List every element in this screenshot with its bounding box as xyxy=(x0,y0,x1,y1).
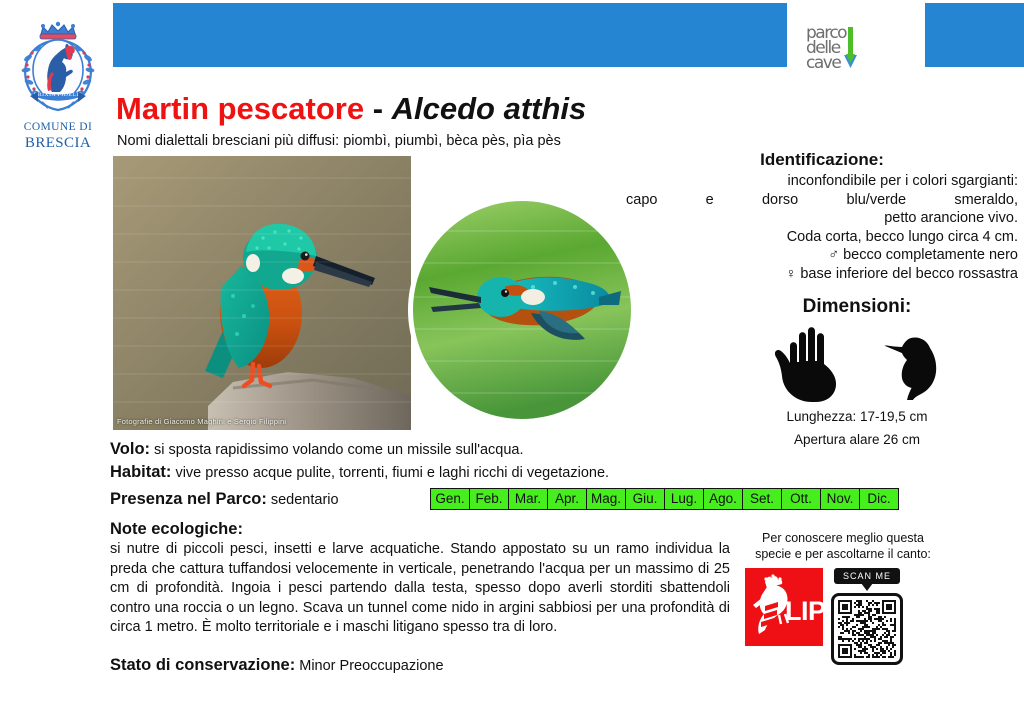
lipu-logo[interactable]: LIPU xyxy=(745,568,823,646)
flight-label: Volo: xyxy=(110,440,150,458)
presence-label: Presenza nel Parco: xyxy=(110,490,267,508)
month-cell-nov: Nov. xyxy=(821,489,859,509)
dimensions-block: Dimensioni: Lunghezza: 17-19,5 cm Apertu… xyxy=(690,296,1024,448)
presence-fact: Presenza nel Parco: sedentario xyxy=(110,490,339,509)
kingfisher-perched-illustration xyxy=(113,156,411,430)
page-title: Martin pescatore - Alcedo atthis xyxy=(116,92,586,126)
dimensions-length: Lunghezza: 17-19,5 cm xyxy=(690,408,1024,425)
crest-label-line2: BRESCIA xyxy=(8,135,108,152)
identification-heading: Identificazione: xyxy=(626,150,1018,170)
conservation-status: Stato di conservazione: Minor Preoccupaz… xyxy=(110,656,444,675)
kingfisher-silhouette-icon xyxy=(881,330,943,402)
months-presence-strip: Gen.Feb.Mar.Apr.Mag.Giu.Lug.Ago.Set.Ott.… xyxy=(430,488,899,510)
poster-sheet: BRIXIA FIDELIS COMUNE DI BRESCIA parco d… xyxy=(0,0,1024,724)
ecological-notes-block: Note ecologiche: si nutre di piccoli pes… xyxy=(110,520,730,638)
kingfisher-flight-illustration xyxy=(413,201,633,421)
identification-line-4: Coda corta, becco lungo circa 4 cm. xyxy=(626,228,1018,247)
hand-silhouette-icon xyxy=(771,324,855,402)
brescia-coat-of-arms-icon: BRIXIA FIDELIS xyxy=(8,18,108,118)
habitat-fact: Habitat: vive presso acque pulite, torre… xyxy=(110,463,609,482)
month-cell-lug: Lug. xyxy=(665,489,703,509)
ecological-notes-body: si nutre di piccoli pesci, insetti e lar… xyxy=(110,540,730,638)
dimensions-heading: Dimensioni: xyxy=(690,296,1024,318)
lipu-wordmark: LIPU xyxy=(785,596,823,626)
svg-text:cave: cave xyxy=(806,53,841,72)
qr-intro-text: Per conoscere meglio questa specie e per… xyxy=(753,530,933,562)
header-blue-bar-right xyxy=(925,3,1024,67)
conservation-status-label: Stato di conservazione: xyxy=(110,656,295,674)
identification-line-female: ♀ base inferiore del becco rossastra xyxy=(626,265,1018,284)
dialect-names: Nomi dialettali bresciani più diffusi: p… xyxy=(117,133,561,149)
month-cell-mag: Mag. xyxy=(587,489,625,509)
qr-lipu-block: Per conoscere meglio questa specie e per… xyxy=(745,530,945,665)
qr-code-matrix xyxy=(838,600,896,658)
month-cell-giu: Giu. xyxy=(626,489,664,509)
presence-value: sedentario xyxy=(267,492,339,508)
kingfisher-flight-photo xyxy=(408,196,636,424)
identification-line-2: capo e dorso blu/verde smeraldo, xyxy=(626,191,1018,210)
month-cell-ott: Ott. xyxy=(782,489,820,509)
month-cell-gen: Gen. xyxy=(431,489,469,509)
parco-delle-cave-logo-icon: parco delle cave xyxy=(806,24,901,72)
header-blue-bar xyxy=(113,3,787,67)
svg-text:BRIXIA FIDELIS: BRIXIA FIDELIS xyxy=(34,92,83,98)
kingfisher-perched-photo: Fotografie di Giacomo Maghini e Sergio F… xyxy=(113,156,411,430)
habitat-label: Habitat: xyxy=(110,463,171,481)
dimensions-wingspan: Apertura alare 26 cm xyxy=(690,431,1024,448)
qr-code-group[interactable]: SCAN ME xyxy=(831,568,903,665)
month-cell-apr: Apr. xyxy=(548,489,586,509)
identification-line-1: inconfondibile per i colori sgargianti: xyxy=(626,172,1018,191)
month-cell-ago: Ago. xyxy=(704,489,742,509)
photo-credit: Fotografie di Giacomo Maghini e Sergio F… xyxy=(117,417,286,426)
identification-line-male: ♂ becco completamente nero xyxy=(626,246,1018,265)
month-cell-set: Set. xyxy=(743,489,781,509)
flight-fact: Volo: si sposta rapidissimo volando come… xyxy=(110,440,524,459)
title-separator: - xyxy=(364,91,392,126)
species-latin-name: Alcedo atthis xyxy=(392,91,587,126)
ecological-notes-heading: Note ecologiche: xyxy=(110,520,730,539)
identification-block: Identificazione: inconfondibile per i co… xyxy=(626,150,1018,283)
crest-label-line1: COMUNE DI xyxy=(8,121,108,133)
month-cell-mar: Mar. xyxy=(509,489,547,509)
month-cell-feb: Feb. xyxy=(470,489,508,509)
lipu-hoopoe-icon: LIPU xyxy=(745,568,823,646)
comune-di-brescia-crest: BRIXIA FIDELIS COMUNE DI BRESCIA xyxy=(8,18,108,163)
identification-line-3: petto arancione vivo. xyxy=(626,209,1018,228)
habitat-text: vive presso acque pulite, torrenti, fium… xyxy=(171,465,609,481)
parco-delle-cave-logo: parco delle cave xyxy=(806,24,901,72)
flight-text: si sposta rapidissimo volando come un mi… xyxy=(150,442,524,458)
conservation-status-value: Minor Preoccupazione xyxy=(295,658,443,674)
species-common-name: Martin pescatore xyxy=(116,91,364,126)
qr-code[interactable] xyxy=(831,593,903,665)
month-cell-dic: Dic. xyxy=(860,489,898,509)
scan-me-badge: SCAN ME xyxy=(834,568,900,584)
